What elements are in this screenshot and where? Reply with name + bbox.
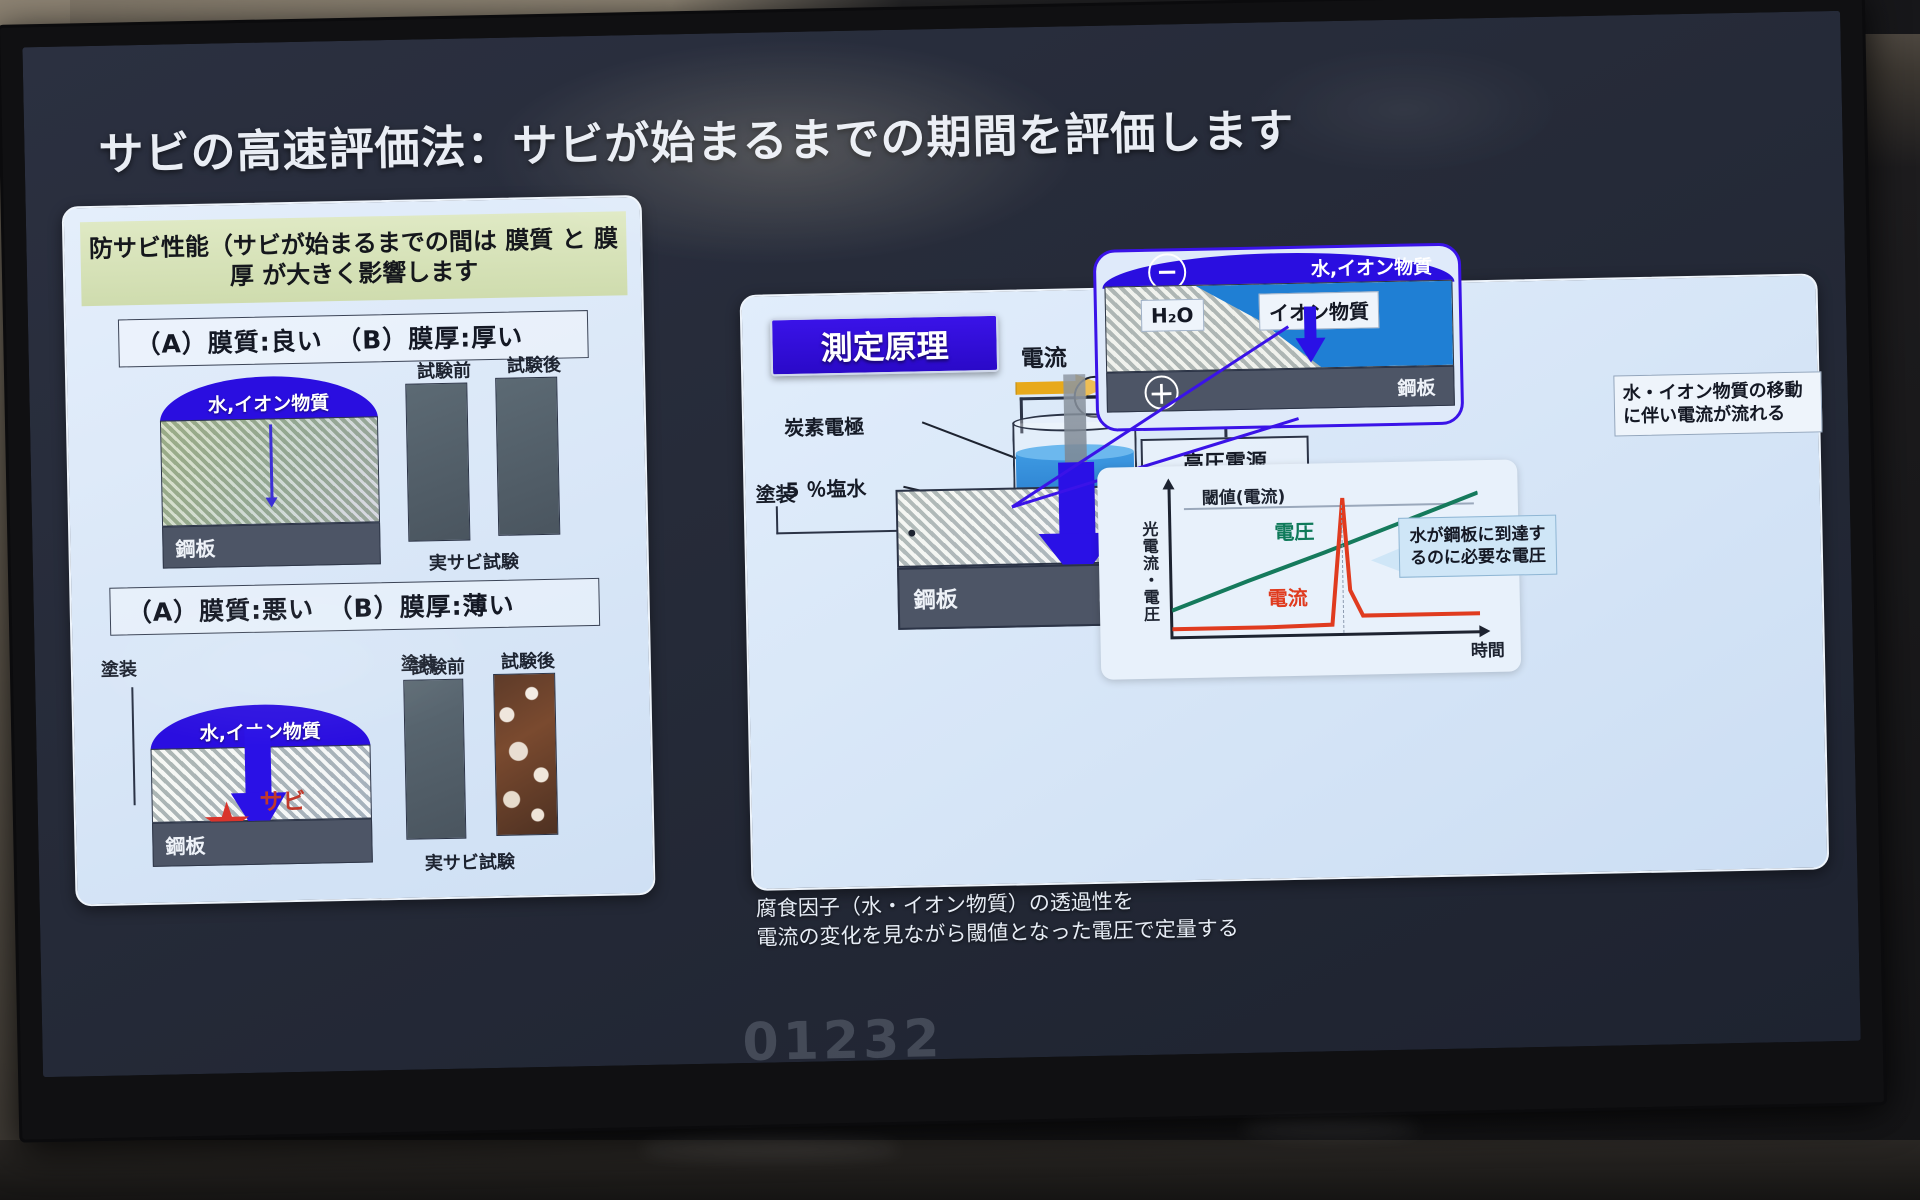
coating-leader-line xyxy=(131,687,135,805)
desk-reflection-2 xyxy=(1240,1120,1420,1138)
footnote: 腐食因子（水・イオン物質）の透過性を 電流の変化を見ながら閾値となった電圧で定量… xyxy=(756,885,1239,953)
threshold-graph-card: 光電流・電圧 時間 閾値(電流) 電圧 電流 xyxy=(1097,459,1521,679)
swatch-before-bad xyxy=(403,679,466,840)
graph-callout: 水が鋼板に到達するのに必要な電圧 xyxy=(1398,515,1557,578)
graph-y-axis-label: 光電流・電圧 xyxy=(1138,521,1162,623)
display-monitor: サビの高速評価法：サビが始まるまでの期間を評価します 防サビ性能（サビが始まるま… xyxy=(0,0,1887,1143)
test-caption-bad: 実サビ試験 xyxy=(425,848,516,876)
salt-water-label: 5 ％塩水 xyxy=(785,473,866,504)
inset-cap-label: 水,イオン物質 xyxy=(1311,252,1433,281)
coating-dot xyxy=(908,530,915,537)
principle-tag: 測定原理 xyxy=(770,314,999,377)
inset-note: 水・イオン物質の移動に伴い電流が流れる xyxy=(1613,371,1822,436)
carbon-electrode-label: 炭素電極 xyxy=(784,411,865,442)
test-caption-good: 実サビ試験 xyxy=(429,547,520,575)
inset-plus-icon: ＋ xyxy=(1144,375,1179,410)
inset-migration-arrow xyxy=(1295,306,1326,363)
before-label-good: 試験前 xyxy=(417,356,472,383)
magnified-inset-panel: 水,イオン物質 − H₂O イオン物質 鋼板 ＋ xyxy=(1093,243,1465,432)
coating-label-right: 塗装 xyxy=(755,478,796,508)
swatch-after-good xyxy=(495,377,560,536)
desk-strip xyxy=(0,1140,1920,1200)
graph-callout-tail xyxy=(1371,548,1401,573)
h2o-tag: H₂O xyxy=(1141,299,1204,332)
arrow-shaft xyxy=(1304,306,1317,341)
page-title: サビの高速評価法：サビが始まるまでの期間を評価します xyxy=(98,89,1519,182)
water-cap-good: 水,イオン物質 xyxy=(159,374,378,422)
current-flow-label: 電流 xyxy=(1020,338,1067,373)
steel-plate-good: 鋼板 xyxy=(162,522,381,568)
room-background: サビの高速評価法：サビが始まるまでの期間を評価します 防サビ性能（サビが始まるま… xyxy=(0,0,1920,1200)
steel-plate-bad: 鋼板 xyxy=(152,818,373,866)
graph-legend-current: 電流 xyxy=(1267,582,1308,612)
arrow-head xyxy=(1296,338,1326,363)
carbon-electrode-leader xyxy=(922,421,1026,462)
swatch-before-good xyxy=(405,382,470,541)
monitor-bezel: サビの高速評価法：サビが始まるまでの期間を評価します 防サビ性能（サビが始まるま… xyxy=(22,11,1860,1077)
after-label-bad: 試験後 xyxy=(501,647,556,674)
specimen-good: 水,イオン物質 鋼板 xyxy=(159,374,381,568)
specimen-bad: 水,イオン物質 サビ 鋼板 xyxy=(150,703,373,867)
rust-label: サビ xyxy=(259,782,306,817)
coating-leader-h xyxy=(776,530,902,535)
coating-label-left: 塗装 xyxy=(101,655,138,682)
case-bad-bar: （A）膜質:悪い （B）膜厚:薄い xyxy=(109,578,600,636)
graph-legend-voltage: 電圧 xyxy=(1274,516,1315,546)
ghost-reflection-text: 01232 xyxy=(742,1009,944,1073)
before-label-bad: 試験前 xyxy=(411,653,466,680)
presentation-slide: サビの高速評価法：サビが始まるまでの期間を評価します 防サビ性能（サビが始まるま… xyxy=(22,11,1860,1077)
graph-x-axis-label: 時間 xyxy=(1471,636,1505,662)
after-label-good: 試験後 xyxy=(507,351,562,378)
green-banner: 防サビ性能（サビが始まるまでの間は 膜質 と 膜厚 が大きく影響します xyxy=(80,211,628,306)
measurement-principle-card: 測定原理 電流 炭素電極 5 ％塩水 − 高圧電源 電 xyxy=(740,273,1830,891)
coating-leader-v xyxy=(776,506,779,534)
anti-rust-performance-card: 防サビ性能（サビが始まるまでの間は 膜質 と 膜厚 が大きく影響します （A）膜… xyxy=(62,195,656,906)
swatch-after-bad xyxy=(493,673,558,836)
